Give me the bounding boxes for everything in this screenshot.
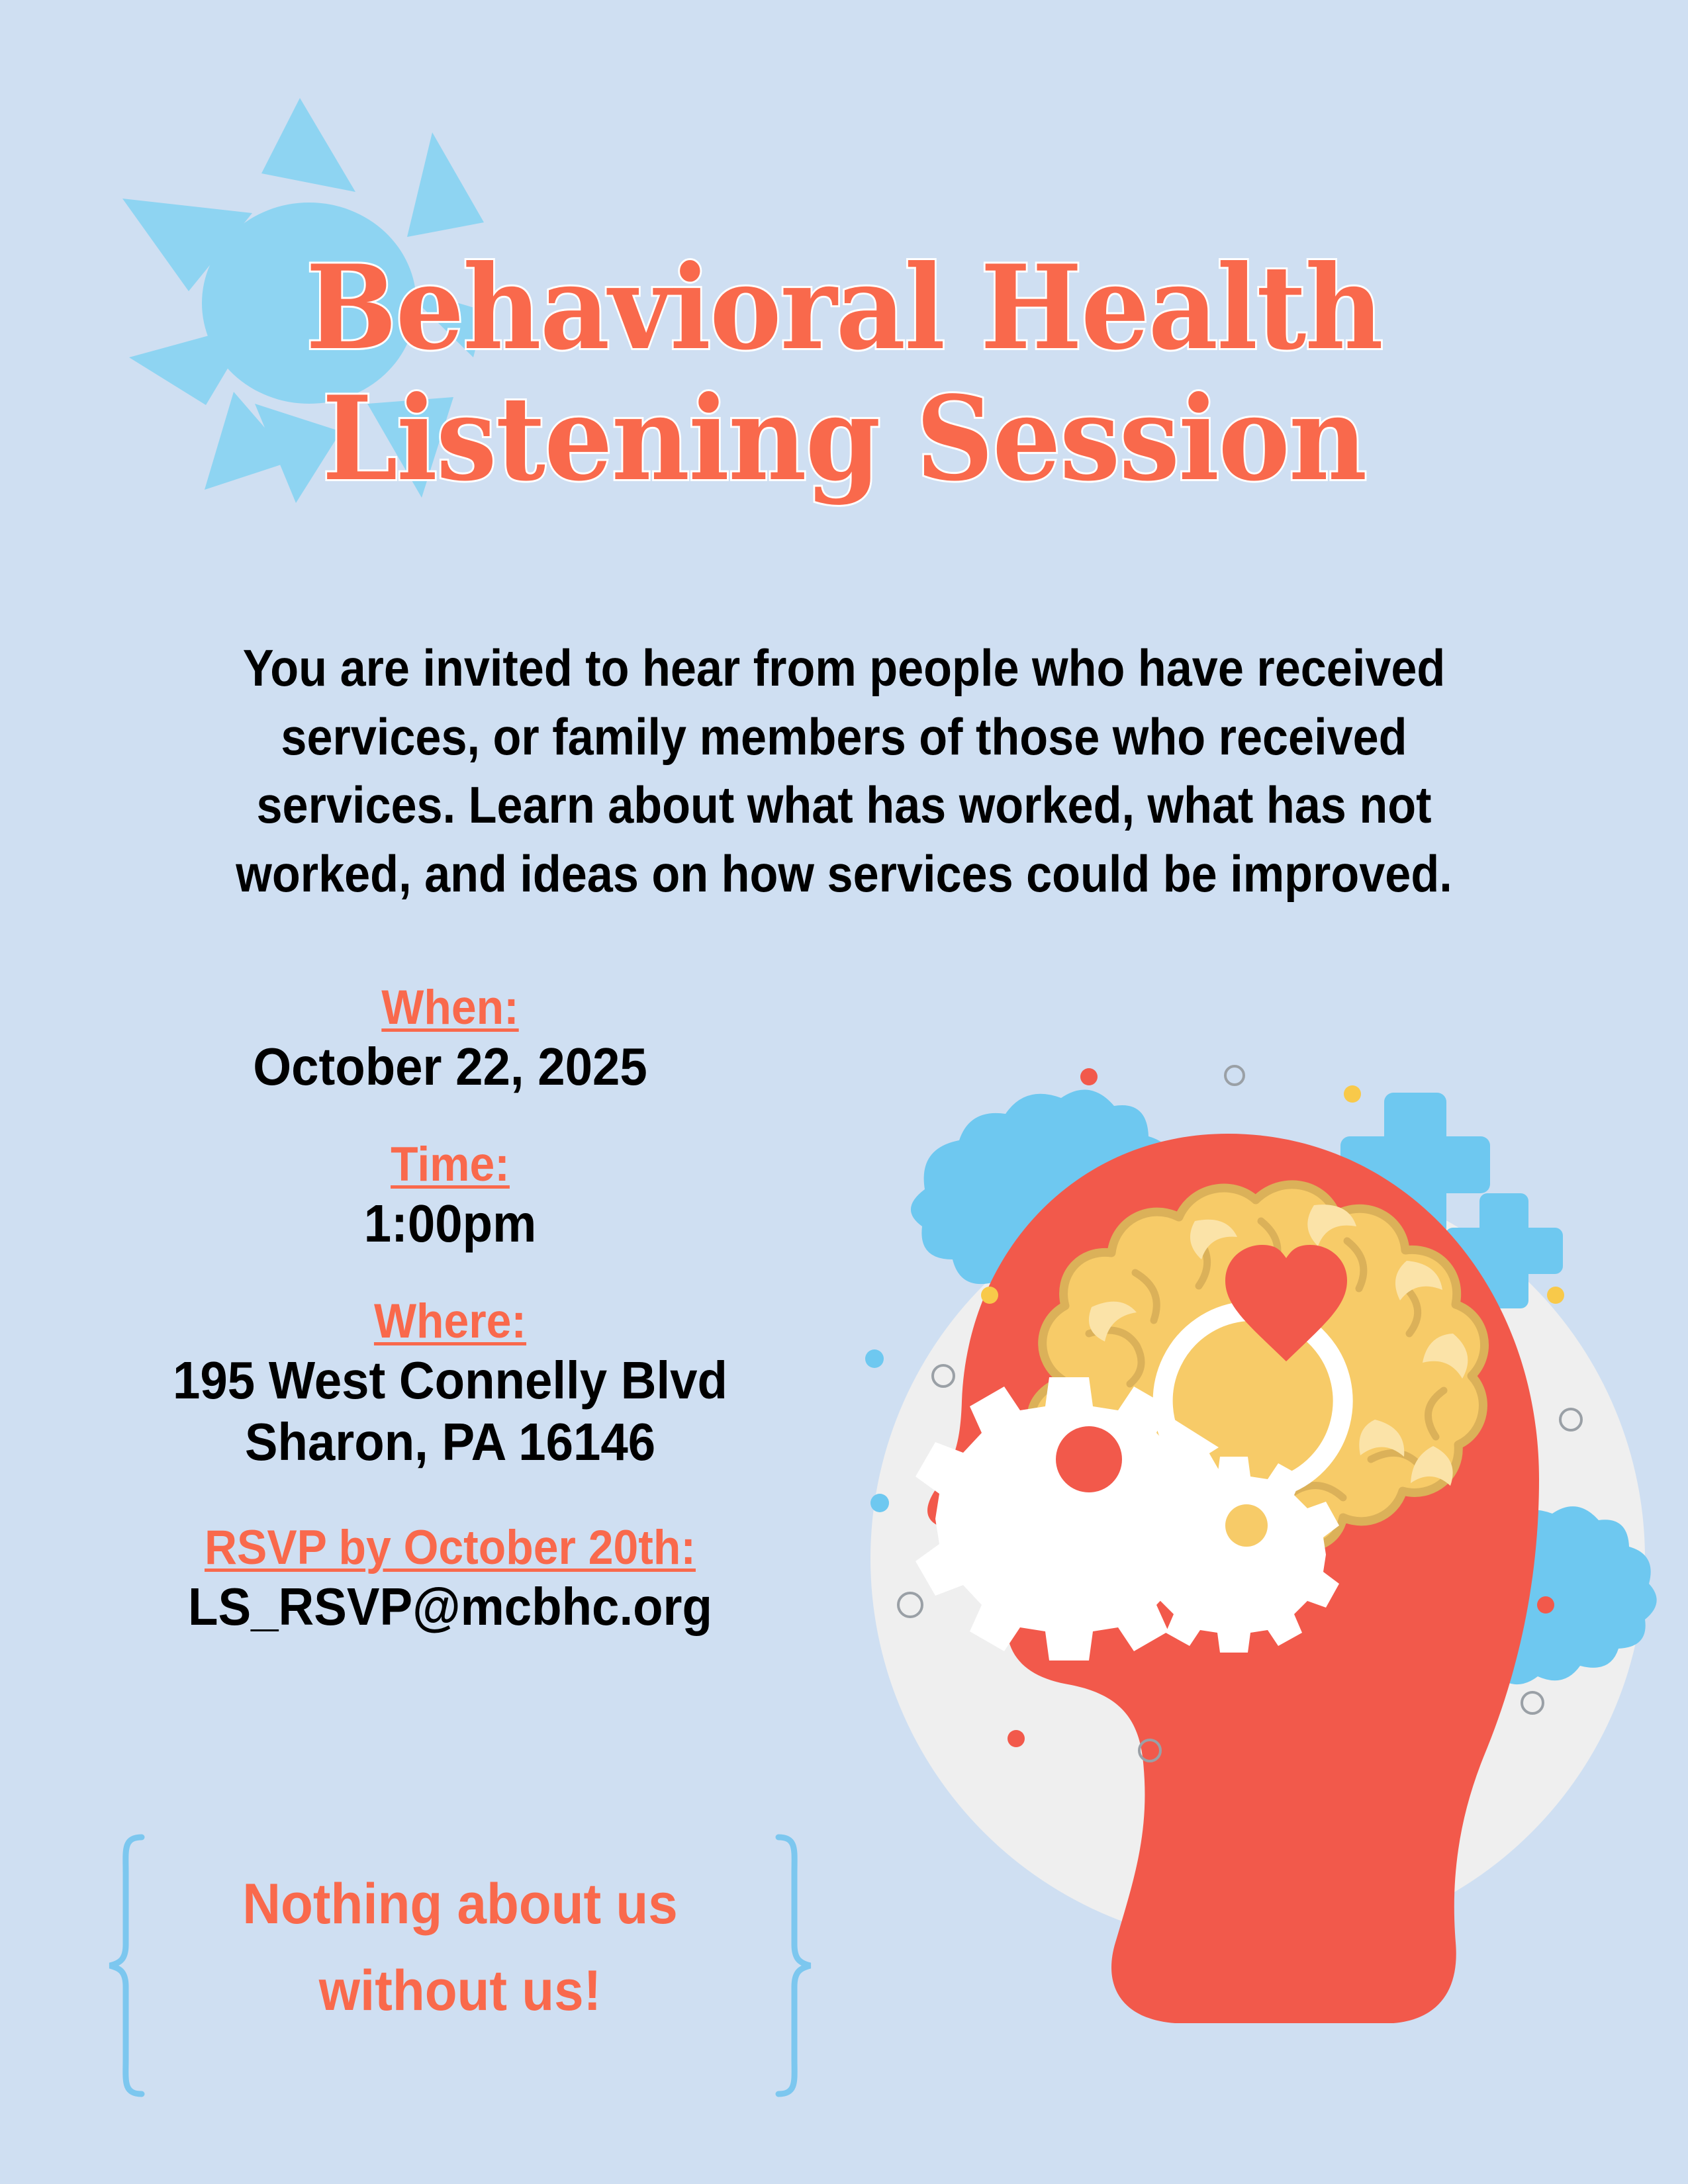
where-label: Where: xyxy=(68,1293,831,1350)
quote-line-2: without us! xyxy=(186,1948,734,2034)
time-value: 1:00pm xyxy=(68,1193,831,1255)
where-line-2: Sharon, PA 16146 xyxy=(68,1412,831,1473)
intro-paragraph: You are invited to hear from people who … xyxy=(198,634,1491,909)
when-label: When: xyxy=(68,979,831,1036)
spacer xyxy=(68,1255,831,1293)
left-brace-icon xyxy=(106,1833,146,2098)
quote-block: Nothing about us without us! xyxy=(106,1833,814,2098)
rsvp-label: RSVP by October 20th: xyxy=(68,1520,831,1576)
page-title: Behavioral Health Listening Session xyxy=(59,243,1629,505)
head-with-brain-illustration xyxy=(824,1023,1688,2035)
flyer-poster: Behavioral Health Listening Session You … xyxy=(0,0,1688,2184)
rsvp-email[interactable]: LS_RSVP@mcbhc.org xyxy=(68,1576,831,1638)
right-brace-icon xyxy=(774,1833,814,2098)
where-line-1: 195 West Connelly Blvd xyxy=(68,1350,831,1412)
event-details: When: October 22, 2025 Time: 1:00pm Wher… xyxy=(68,979,831,1637)
spacer xyxy=(68,1473,831,1520)
time-label: Time: xyxy=(68,1136,831,1193)
when-value: October 22, 2025 xyxy=(68,1036,831,1098)
quote-text: Nothing about us without us! xyxy=(186,1861,734,2034)
quote-line-1: Nothing about us xyxy=(186,1861,734,1948)
spacer xyxy=(68,1098,831,1136)
